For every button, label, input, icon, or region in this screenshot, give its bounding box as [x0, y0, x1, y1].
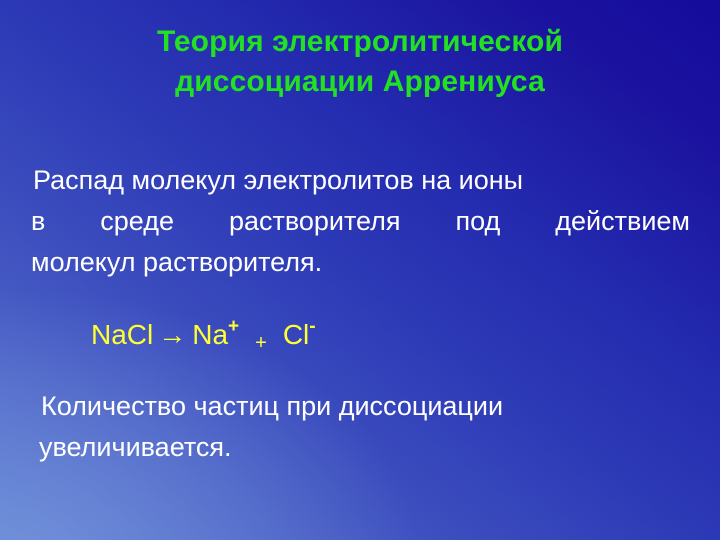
definition-word: среде	[100, 201, 174, 242]
reaction-arrow-icon: →	[153, 319, 192, 350]
equation-charge-positive: +	[228, 316, 239, 337]
conclusion-paragraph: Количество частиц при диссоциации увелич…	[41, 386, 681, 468]
slide-canvas: Теория электролитической диссоциации Арр…	[0, 0, 720, 540]
equation-product-chloride: Cl	[283, 319, 309, 350]
definition-line-1: Распад молекул электролитов на ионы	[31, 160, 690, 201]
chemical-equation: NaCl→Na++Cl-	[91, 318, 316, 355]
title-line-1: Теория электролитической	[50, 22, 670, 62]
definition-line-3: молекул растворителя.	[31, 242, 690, 283]
equation-plus-operator: +	[252, 332, 270, 354]
equation-reactant: NaCl	[91, 319, 153, 350]
definition-paragraph: Распад молекул электролитов на ионы в ср…	[31, 160, 690, 283]
definition-line-2: в среде растворителя под действием	[31, 201, 690, 242]
conclusion-line-2: увеличивается.	[39, 427, 681, 468]
slide-title: Теория электролитической диссоциации Арр…	[50, 22, 670, 102]
title-line-2: диссоциации Аррениуса	[50, 62, 670, 102]
equation-product-sodium: Na	[192, 319, 228, 350]
equation-charge-negative: -	[309, 316, 315, 337]
conclusion-line-1: Количество частиц при диссоциации	[41, 386, 681, 427]
definition-word: под	[456, 201, 501, 242]
definition-word: в	[31, 201, 45, 242]
definition-word: действием	[555, 201, 690, 242]
definition-word: растворителя	[229, 201, 401, 242]
